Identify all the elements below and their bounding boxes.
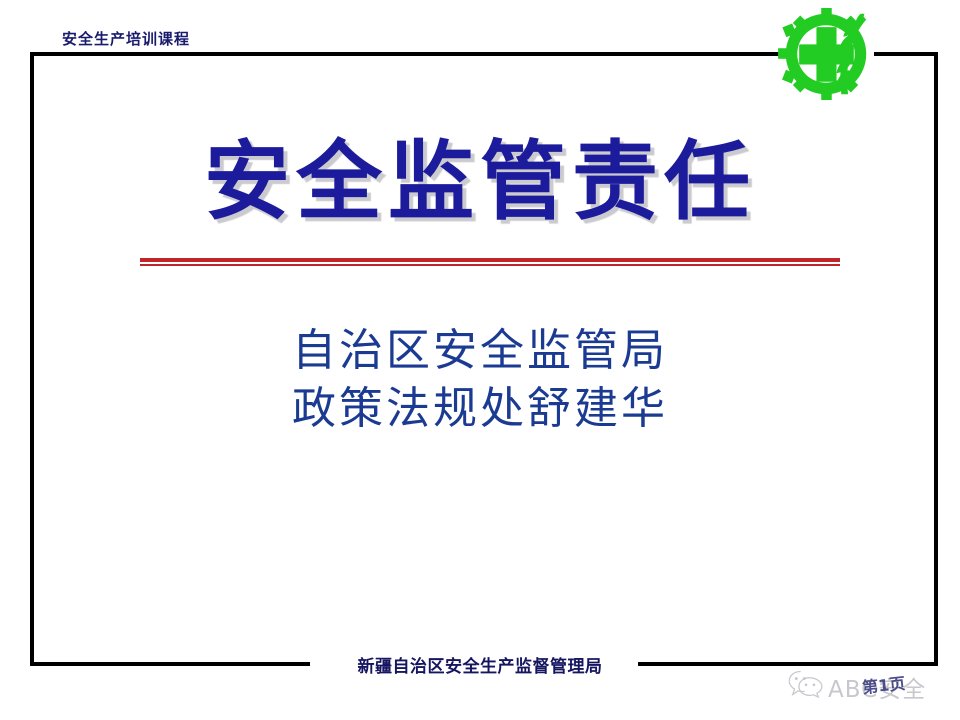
red-divider-line-bottom [140, 264, 840, 266]
wechat-icon [788, 668, 824, 698]
subtitle-line-presenter: 政策法规处舒建华 [0, 380, 960, 438]
subtitle-line-organization: 自治区安全监管局 [0, 322, 960, 380]
red-divider-line-top [140, 258, 840, 262]
slide-main-title: 安全监管责任 [0, 130, 960, 234]
red-divider [140, 258, 840, 266]
page-number: 第1页 [861, 670, 906, 698]
frame-rule-top-right [874, 52, 938, 56]
slide-subtitle: 自治区安全监管局 政策法规处舒建华 [0, 322, 960, 438]
slide-canvas: 安全生产培训课程 [0, 0, 960, 720]
header-course-title: 安全生产培训课程 [62, 28, 190, 49]
frame-rule-top-left [30, 52, 785, 56]
safety-production-emblem-icon [778, 8, 874, 100]
